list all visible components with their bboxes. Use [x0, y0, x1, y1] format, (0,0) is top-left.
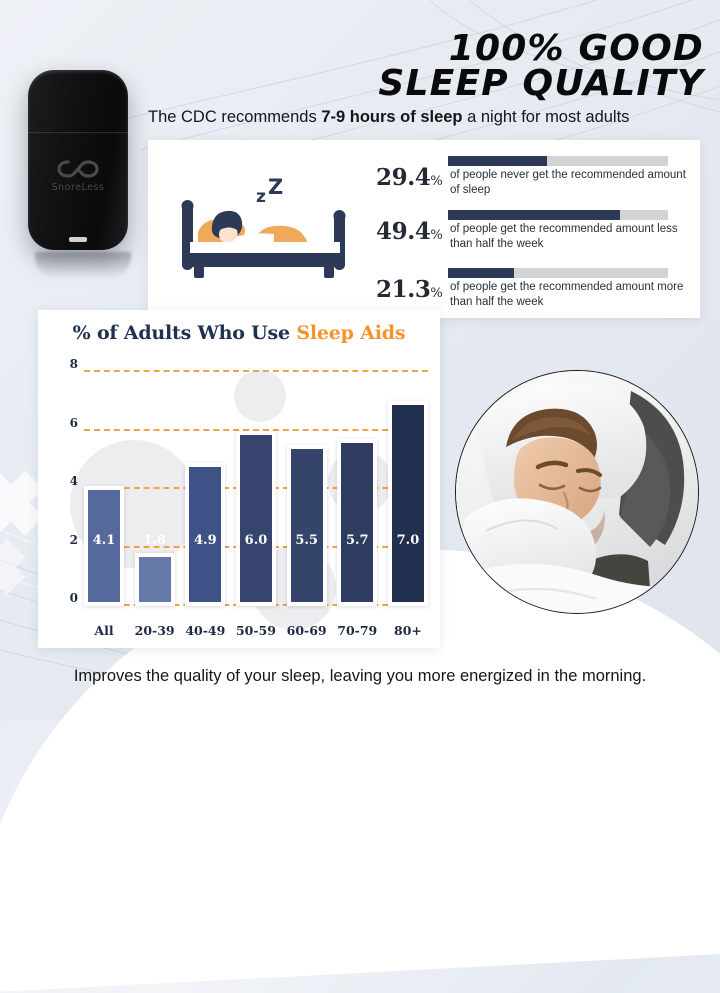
- svg-text:z: z: [256, 187, 266, 207]
- statistics-panel: z Z 29.4% of people never get the recomm…: [148, 140, 700, 318]
- sleeping-in-bed-illustration: z Z: [168, 176, 358, 282]
- chart-y-tick-label: 6: [54, 416, 78, 430]
- chart-x-tick-label: 50-59: [228, 623, 284, 638]
- stat-number: 21.3: [376, 276, 430, 303]
- chart-bar: 5.7: [337, 439, 377, 606]
- stat-value: 29.4%: [376, 164, 442, 191]
- chart-x-tick-label: 20-39: [127, 623, 183, 638]
- chart-bar-slot: 6.050-59: [236, 372, 276, 606]
- chart-x-tick-label: 70-79: [329, 623, 385, 638]
- cdc-emphasis: 7-9 hours of sleep: [321, 108, 462, 126]
- chart-bar: 1.8: [135, 553, 175, 606]
- device-seam: [28, 132, 128, 133]
- device-body: SnoreLess: [28, 70, 128, 250]
- chart-title-accent: Sleep Aids: [296, 322, 405, 344]
- page-title: 100% GOOD SLEEP QUALITY: [378, 32, 704, 102]
- stat-bar-track: [448, 268, 668, 278]
- chart-title: % of Adults Who Use Sleep Aids: [38, 322, 440, 344]
- infinity-icon: [56, 158, 100, 180]
- chart-y-tick-label: 2: [54, 533, 78, 547]
- chart-bars: 4.1All1.820-394.940-496.050-595.560-695.…: [84, 372, 428, 606]
- stat-description: of people never get the recommended amou…: [450, 168, 690, 198]
- chart-bar-slot: 4.1All: [84, 372, 124, 606]
- stat-number: 29.4: [376, 164, 430, 191]
- device-reflection: [35, 252, 131, 278]
- stat-number: 49.4: [376, 218, 430, 245]
- stat-bar-fill: [448, 268, 514, 278]
- device-logo: SnoreLess: [28, 158, 128, 193]
- chart-bar-value-label: 7.0: [392, 533, 424, 548]
- stat-bar-fill: [448, 156, 547, 166]
- stat-unit: %: [430, 174, 442, 189]
- chart-bar-value-label: 5.5: [291, 533, 323, 548]
- chart-x-tick-label: 40-49: [177, 623, 233, 638]
- stat-bar-track: [448, 156, 668, 166]
- chart-y-tick-label: 8: [54, 357, 78, 371]
- chart-bar-value-label: 6.0: [240, 533, 272, 548]
- svg-text:Z: Z: [268, 176, 283, 199]
- sleeping-man-photo: [455, 370, 699, 614]
- stat-unit: %: [430, 228, 442, 243]
- headline-line-2: SLEEP QUALITY: [378, 67, 704, 102]
- chart-y-tick-label: 0: [54, 591, 78, 605]
- chart-bar-slot: 1.820-39: [135, 372, 175, 606]
- decorative-x-left-lower: [0, 540, 24, 594]
- cdc-suffix: a night for most adults: [463, 108, 630, 126]
- chart-bar-slot: 4.940-49: [185, 372, 225, 606]
- stat-value: 49.4%: [376, 218, 442, 245]
- stat-bar-fill: [448, 210, 620, 220]
- stat-value: 21.3%: [376, 276, 442, 303]
- cdc-prefix: The CDC recommends: [148, 108, 321, 126]
- chart-bar: 4.1: [84, 486, 124, 606]
- chart-bar-value-label: 4.9: [189, 533, 221, 548]
- stat-description: of people get the recommended amount mor…: [450, 280, 690, 310]
- chart-bar-value-label: 5.7: [341, 533, 373, 548]
- chart-x-tick-label: 60-69: [279, 623, 335, 638]
- product-device: SnoreLess: [28, 70, 138, 278]
- photo-content: [456, 371, 699, 614]
- chart-x-tick-label: All: [76, 623, 132, 638]
- sleep-aids-chart-panel: % of Adults Who Use Sleep Aids 02468 4.1…: [38, 310, 440, 648]
- chart-bar-slot: 5.560-69: [287, 372, 327, 606]
- chart-bar: 7.0: [388, 401, 428, 606]
- chart-y-tick-label: 4: [54, 474, 78, 488]
- chart-bar: 6.0: [236, 431, 276, 607]
- chart-bar: 4.9: [185, 463, 225, 606]
- device-port: [69, 237, 87, 242]
- chart-plot-area: 02468 4.1All1.820-394.940-496.050-595.56…: [84, 372, 428, 606]
- chart-bar-value-label: 1.8: [139, 533, 171, 548]
- chart-bar-value-label: 4.1: [88, 533, 120, 548]
- stat-unit: %: [430, 286, 442, 301]
- stat-bar-track: [448, 210, 668, 220]
- chart-title-plain: % of Adults Who Use: [73, 322, 297, 344]
- cdc-recommendation-text: The CDC recommends 7-9 hours of sleep a …: [148, 108, 629, 127]
- chart-bar: 5.5: [287, 445, 327, 606]
- stat-description: of people get the recommended amount les…: [450, 222, 690, 252]
- chart-bar-slot: 5.770-79: [337, 372, 377, 606]
- headline-line-1: 100% GOOD: [378, 32, 704, 67]
- footer-caption: Improves the quality of your sleep, leav…: [0, 667, 720, 686]
- device-logo-text: SnoreLess: [28, 182, 128, 193]
- chart-x-tick-label: 80+: [380, 623, 436, 638]
- chart-bar-slot: 7.080+: [388, 372, 428, 606]
